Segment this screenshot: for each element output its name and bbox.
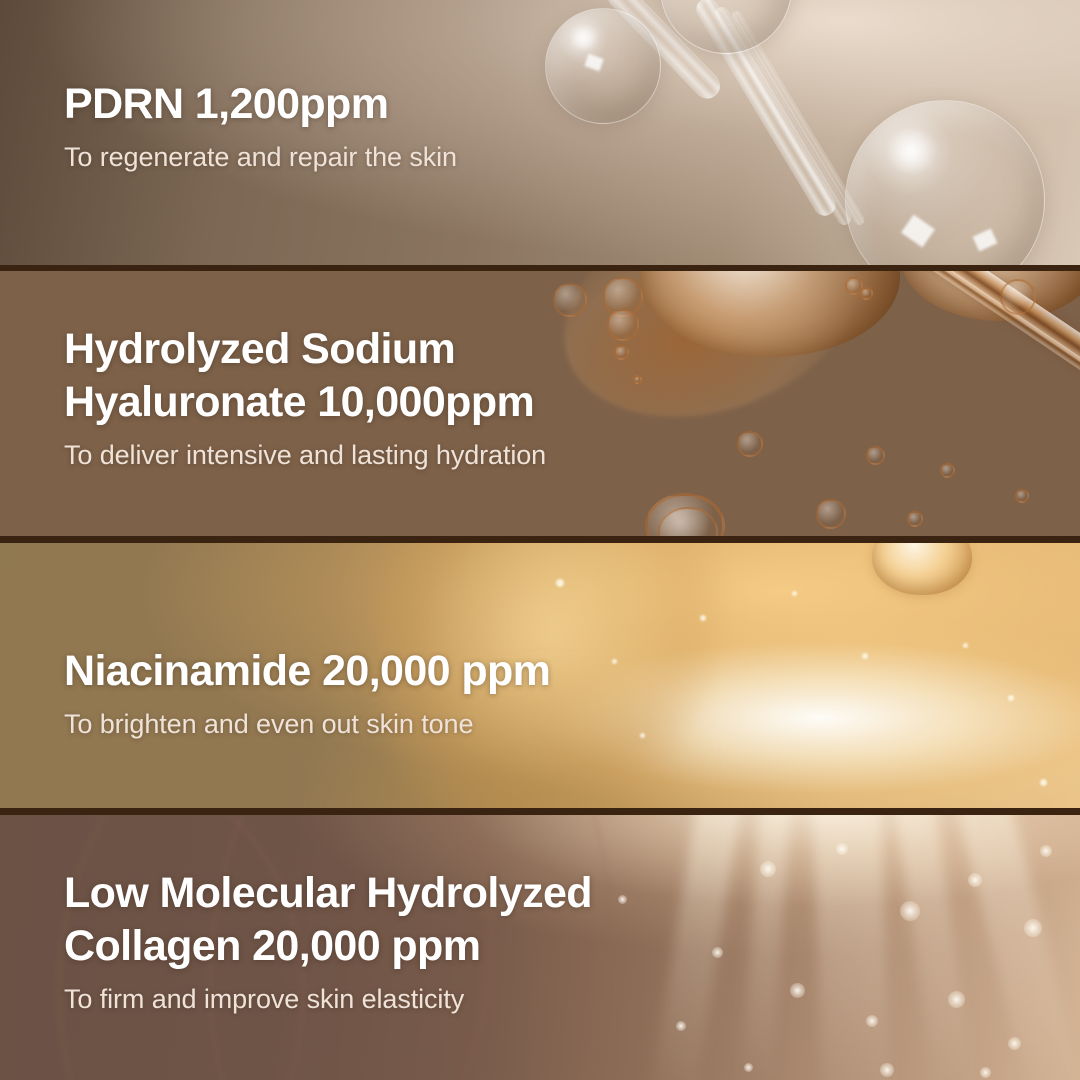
panel-divider (0, 265, 1080, 271)
sparkle-bokeh (618, 895, 627, 904)
serum-speck (792, 591, 797, 596)
panel-subtitle: To brighten and even out skin tone (64, 707, 550, 741)
bubble-ring (860, 287, 873, 300)
bubble-ring (907, 511, 923, 527)
sparkle-bokeh (880, 1063, 894, 1077)
light-ray (649, 815, 744, 1080)
serum-speck (556, 579, 564, 587)
panel-copy-niacinamide: Niacinamide 20,000 ppm To brighten and e… (64, 645, 550, 741)
sparkle-bokeh (744, 1063, 753, 1072)
serum-speck (612, 659, 617, 664)
bubble-ring (1015, 489, 1029, 503)
ingredient-panel-niacinamide: Niacinamide 20,000 ppm To brighten and e… (0, 543, 1080, 808)
serum-speck (1040, 779, 1047, 786)
light-ray (812, 815, 892, 1080)
panel-title: Low Molecular Hydrolyzed Collagen 20,000… (64, 867, 592, 973)
sparkle-bokeh (1008, 1037, 1021, 1050)
ingredient-panel-collagen: Low Molecular Hydrolyzed Collagen 20,000… (0, 815, 1080, 1080)
ingredient-panel-hyaluronate: Hydrolyzed Sodium Hyaluronate 10,000ppm … (0, 271, 1080, 536)
sparkle-bokeh (676, 1021, 686, 1031)
sparkle-bokeh (836, 843, 848, 855)
panel-copy-hyaluronate: Hydrolyzed Sodium Hyaluronate 10,000ppm … (64, 323, 546, 472)
bubble-ring (940, 463, 955, 478)
molecule-sphere-icon (545, 8, 661, 124)
panel-divider (0, 808, 1080, 815)
bubble-ring (1000, 279, 1036, 315)
sparkle-bokeh (790, 983, 805, 998)
serum-speck (1008, 695, 1014, 701)
serum-speck (700, 615, 706, 621)
panel-subtitle: To deliver intensive and lasting hydrati… (64, 438, 546, 472)
panel-subtitle: To firm and improve skin elasticity (64, 982, 592, 1016)
serum-speck (862, 653, 868, 659)
panel-title: Hydrolyzed Sodium Hyaluronate 10,000ppm (64, 323, 546, 429)
panel-copy-collagen: Low Molecular Hydrolyzed Collagen 20,000… (64, 867, 592, 1016)
panel-divider (0, 536, 1080, 543)
sparkle-bokeh (866, 1015, 878, 1027)
serum-droplet (872, 543, 972, 595)
serum-speck (640, 733, 645, 738)
light-ray (741, 815, 792, 1080)
bubble-ring (633, 375, 642, 384)
sparkle-bokeh (712, 947, 723, 958)
sparkle-bokeh (760, 861, 776, 877)
panel-title: PDRN 1,200ppm (64, 78, 457, 131)
sparkle-bokeh (900, 901, 920, 921)
sparkle-bokeh (1040, 845, 1052, 857)
panel-subtitle: To regenerate and repair the skin (64, 140, 457, 174)
bubble-ring (614, 345, 629, 360)
ingredient-benefits-infographic: PDRN 1,200ppm To regenerate and repair t… (0, 0, 1080, 1080)
molecule-sphere-icon (845, 100, 1045, 265)
panel-title: Niacinamide 20,000 ppm (64, 645, 550, 698)
bubble-ring (866, 446, 885, 465)
light-ray (892, 815, 975, 1080)
sparkle-bokeh (948, 991, 965, 1008)
ingredient-panel-pdrn: PDRN 1,200ppm To regenerate and repair t… (0, 0, 1080, 265)
bubble-ring (607, 309, 639, 341)
bubble-ring (816, 499, 846, 529)
bubble-ring (553, 283, 587, 317)
sparkle-bokeh (980, 1067, 991, 1078)
serum-speck (963, 643, 968, 648)
sparkle-bokeh (1024, 919, 1042, 937)
sparkle-bokeh (968, 873, 982, 887)
bubble-ring (737, 431, 763, 457)
panel-copy-pdrn: PDRN 1,200ppm To regenerate and repair t… (64, 78, 457, 174)
